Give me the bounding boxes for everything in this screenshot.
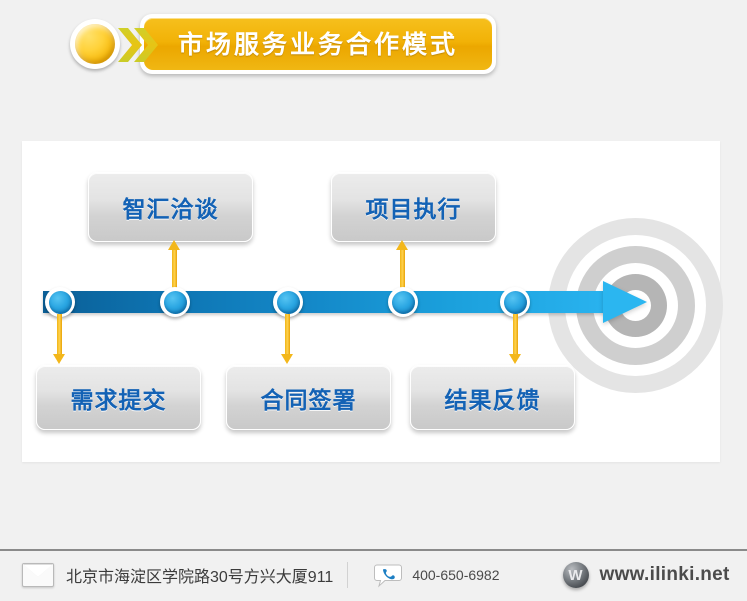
step-box-bottom-3[interactable]: 结果反馈 [410,365,575,430]
footer-bar: 北京市海淀区学院路30号方兴大厦911 400-650-6982 W www.i… [0,549,747,601]
address-text: 北京市海淀区学院路30号方兴大厦911 [66,563,333,587]
step-label: 需求提交 [71,381,167,415]
timeline-node-3[interactable] [273,287,303,317]
phone-text: 400-650-6982 [412,567,499,583]
timeline-node-5[interactable] [500,287,530,317]
timeline-node-2[interactable] [160,287,190,317]
step-label: 智汇洽谈 [123,190,219,224]
connector-arrow-down-2 [284,314,291,364]
timeline-node-1[interactable] [45,287,75,317]
footer-phone: 400-650-6982 [374,563,499,588]
timeline-arrow [43,282,653,322]
envelope-icon [22,563,54,587]
step-label: 结果反馈 [445,381,541,415]
connector-arrow-down-3 [512,314,519,364]
connector-arrow-down-1 [56,314,63,364]
footer-site[interactable]: W www.ilinki.net [563,562,730,588]
title-plate: 市场服务业务合作模式 [140,14,496,74]
phone-bubble-icon [374,563,402,588]
timeline-node-4[interactable] [388,287,418,317]
step-label: 项目执行 [366,190,462,224]
footer-address: 北京市海淀区学院路30号方兴大厦911 [22,563,333,587]
step-box-bottom-2[interactable]: 合同签署 [226,365,391,430]
site-text: www.ilinki.net [600,564,730,586]
page-title: 市场服务业务合作模式 [144,18,492,70]
step-box-bottom-1[interactable]: 需求提交 [36,365,201,430]
wordpress-globe-icon: W [563,562,589,588]
step-box-top-1[interactable]: 智汇洽谈 [88,172,253,242]
step-box-top-2[interactable]: 项目执行 [331,172,496,242]
footer-divider-1 [347,562,348,588]
gold-ball-icon [70,19,120,69]
step-label: 合同签署 [261,381,357,415]
timeline-arrowhead [603,281,647,323]
title-banner: 市场服务业务合作模式 [70,18,496,70]
